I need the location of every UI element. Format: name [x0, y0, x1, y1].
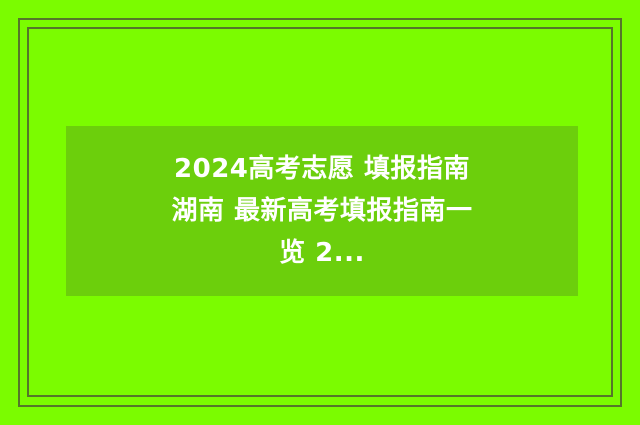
placeholder-card: 2024高考志愿 填报指南湖南 最新高考填报指南一览 2... — [0, 0, 640, 425]
card-title: 2024高考志愿 填报指南湖南 最新高考填报指南一览 2... — [163, 148, 481, 274]
title-panel: 2024高考志愿 填报指南湖南 最新高考填报指南一览 2... — [66, 126, 578, 296]
